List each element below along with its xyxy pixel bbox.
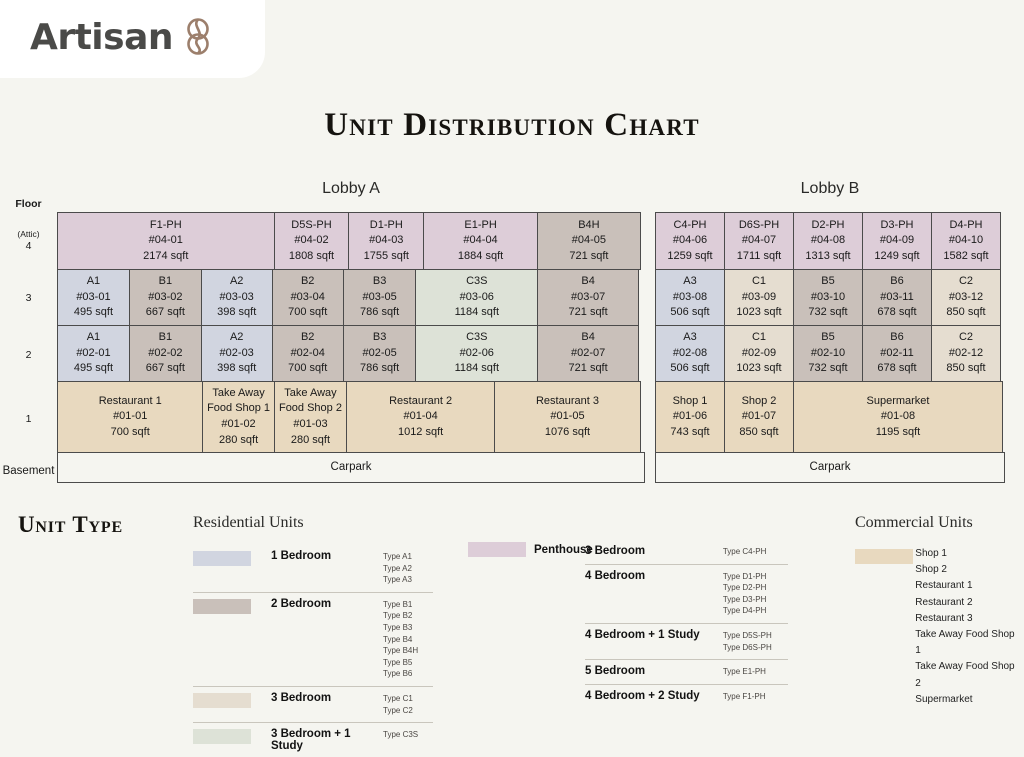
legend-type-list: Type E1-PH [723,660,788,684]
unit-number: #03-01 [76,290,110,306]
residential-legend-heading: Residential Units [193,514,433,532]
unit-cell: C3S#02-061184 sqft [415,325,538,382]
unit-number: #02-11 [880,346,913,362]
legend-type-item: Type D5S-PH [723,630,788,642]
legend-type-list: Type C1Type C2 [383,687,433,722]
unit-number: #01-07 [742,409,776,425]
unit-cell: A1#03-01495 sqft [57,269,130,326]
unit-code: Take Away [212,386,264,402]
unit-area: 1184 sqft [455,361,499,377]
unit-number: #04-07 [742,233,776,249]
unit-area: 1808 sqft [289,249,334,265]
unit-number: #03-05 [362,290,396,306]
unit-area: 2174 sqft [143,249,188,265]
unit-number: #01-02 [221,417,255,433]
unit-area: 495 sqft [74,305,113,321]
legend-type-item: Type C2 [383,705,433,717]
unit-number: #02-01 [76,346,110,362]
unit-area: 398 sqft [217,305,256,321]
unit-area: 732 sqft [808,305,847,321]
unit-code: D4-PH [949,218,982,234]
unit-cell: E1-PH#04-041884 sqft [423,212,538,270]
unit-cell: B4#03-07721 sqft [537,269,639,326]
unit-cell: B6#02-11678 sqft [862,325,932,382]
unit-code: Shop 1 [673,394,708,410]
unit-cell: C4-PH#04-061259 sqft [655,212,725,270]
lobby-b-carpark-cell: Carpark [655,452,1005,483]
unit-code: A1 [87,274,100,290]
unit-area: 743 sqft [670,425,709,441]
unit-code: B6 [890,274,903,290]
unit-number: #02-10 [811,346,845,362]
unit-code: B5 [821,330,834,346]
unit-cell: Restaurant 3#01-051076 sqft [494,381,641,453]
unit-code: C1 [752,274,766,290]
lobby-b-floor-2-row: A3#02-08506 sqftC1#02-091023 sqftB5#02-1… [655,325,1005,381]
legend-type-item: Type D1-PH [723,571,788,583]
unit-code: B2 [301,330,314,346]
floor-label-1: 1 [0,384,57,456]
unit-cell: C2#02-12850 sqft [931,325,1001,382]
commercial-item: Take Away Food Shop 1 [915,627,1020,659]
unit-code: A3 [683,330,696,346]
legend-label: 3 Bedroom + 1 Study [271,723,383,757]
lobby-b-heading: Lobby B [655,180,1005,198]
legend-type-item: Type B4 [383,634,433,646]
unit-cell: A3#02-08506 sqft [655,325,725,382]
unit-cell: A2#03-03398 sqft [201,269,273,326]
legend-row: 2 BedroomType B1Type B2Type B3Type B4Typ… [193,592,433,686]
commercial-legend: Commercial Units Shop 1Shop 2Restaurant … [855,514,1020,708]
legend-label: 3 Bedroom [271,687,383,709]
commercial-item: Shop 1 [915,546,1020,562]
commercial-legend-body: Shop 1Shop 2Restaurant 1Restaurant 2Rest… [855,546,1020,708]
legend-type-item: Type D3-PH [723,594,788,606]
lobby-a-carpark-cell: Carpark [57,452,645,483]
unit-code: B3 [373,330,386,346]
unit-number: #02-02 [148,346,182,362]
unit-code: Restaurant 3 [536,394,599,410]
unit-code: C4-PH [673,218,706,234]
unit-number: #04-02 [294,233,328,249]
unit-number: #03-02 [148,290,182,306]
unit-number: #01-01 [113,409,147,425]
unit-cell: D4-PH#04-101582 sqft [931,212,1001,270]
legend-label: 3 Bedroom [585,540,723,562]
unit-area: 1184 sqft [455,305,499,321]
unit-cell: B5#02-10732 sqft [793,325,863,382]
unit-number: #04-04 [463,233,497,249]
legend-swatch [193,729,251,744]
lobby-a-carpark-label: Carpark [331,459,372,475]
legend-label: 2 Bedroom [271,593,383,615]
unit-cell: Take AwayFood Shop 1#01-02280 sqft [202,381,274,453]
unit-cell: D5S-PH#04-021808 sqft [274,212,350,270]
unit-area: 700 sqft [111,425,150,441]
lobby-b-table: C4-PH#04-061259 sqftD6S-PH#04-071711 sqf… [655,212,1005,482]
unit-number: #03-09 [742,290,776,306]
residential-legend: Residential Units 1 BedroomType A1Type A… [193,514,433,757]
unit-cell: C2#03-12850 sqft [931,269,1001,326]
unit-area: 1582 sqft [943,249,988,265]
legend-label: 1 Bedroom [271,545,383,567]
legend-type-item: Type D4-PH [723,605,788,617]
unit-area: 1012 sqft [398,425,443,441]
unit-area: 1313 sqft [805,249,850,265]
unit-area: 1195 sqft [876,425,920,441]
legend-row: 3 BedroomType C1Type C2 [193,686,433,722]
unit-area: 506 sqft [670,305,709,321]
commercial-item: Restaurant 1 [915,578,1020,594]
floor-4-number: 4 [26,240,32,253]
commercial-swatch [855,549,913,564]
unit-area: 786 sqft [360,305,399,321]
legend-type-item: Type B2 [383,610,433,622]
unit-cell: Supermarket#01-081195 sqft [793,381,1003,453]
commercial-item: Restaurant 3 [915,611,1020,627]
residential-legend-rows: 1 BedroomType A1Type A2Type A32 BedroomT… [193,545,433,757]
floor-label-4: (Attic) 4 [0,212,57,270]
unit-cell: A1#02-01495 sqft [57,325,130,382]
unit-code: B4H [578,218,599,234]
floor-2-number: 2 [26,349,32,362]
unit-cell: B2#03-04700 sqft [272,269,344,326]
unit-area: 1023 sqft [736,361,781,377]
unit-cell: A3#03-08506 sqft [655,269,725,326]
lobby-a-table: F1-PH#04-012174 sqftD5S-PH#04-021808 sqf… [57,212,645,482]
unit-cell: B1#03-02667 sqft [129,269,202,326]
unit-number: #02-03 [220,346,254,362]
unit-cell: D2-PH#04-081313 sqft [793,212,863,270]
legend-type-item: Type A1 [383,551,433,563]
legend-swatch-cell [193,545,271,571]
legend-type-item: Type A2 [383,563,433,575]
unit-number: #02-07 [571,346,605,362]
unit-number: #03-08 [673,290,707,306]
unit-code: A2 [230,274,243,290]
unit-code: Food Shop 2 [279,401,342,417]
legend-swatch-cell [193,593,271,619]
unit-cell: B5#03-10732 sqft [793,269,863,326]
unit-code: A3 [683,274,696,290]
unit-code: B5 [821,274,834,290]
unit-number: #04-05 [572,233,606,249]
unit-area: 1755 sqft [364,249,409,265]
unit-area: 280 sqft [219,433,258,449]
commercial-item-list: Shop 1Shop 2Restaurant 1Restaurant 2Rest… [915,546,1020,708]
unit-cell: C1#02-091023 sqft [724,325,794,382]
unit-number: #01-08 [881,409,915,425]
legend-row: 3 BedroomType C4-PH [585,540,788,564]
legend-swatch-cell [193,687,271,713]
legend-row: 1 BedroomType A1Type A2Type A3 [193,545,433,592]
unit-number: #04-10 [949,233,983,249]
unit-cell: F1-PH#04-012174 sqft [57,212,275,270]
unit-area: 667 sqft [146,305,185,321]
unit-cell: B2#02-04700 sqft [272,325,344,382]
legend-type-item: Type B1 [383,599,433,611]
penthouse-legend-header: Penthouse [468,542,593,557]
unit-cell: B6#03-11678 sqft [862,269,932,326]
unit-number: #03-11 [880,290,913,306]
unit-cell: B1#02-02667 sqft [129,325,202,382]
unit-area: 700 sqft [288,305,327,321]
unit-cell: B3#03-05786 sqft [343,269,417,326]
lobby-a-heading: Lobby A [57,180,645,198]
brand-logo: Artisan [0,0,265,78]
lobby-a-floor-3-row: A1#03-01495 sqftB1#03-02667 sqftA2#03-03… [57,269,645,325]
unit-area: 850 sqft [946,305,985,321]
unit-area: 786 sqft [360,361,399,377]
unit-area: 667 sqft [146,361,185,377]
unit-area: 850 sqft [739,425,778,441]
legend-type-list: Type F1-PH [723,685,788,709]
unit-code: A2 [230,330,243,346]
unit-number: #03-07 [571,290,605,306]
unit-code: F1-PH [150,218,182,234]
unit-area: 1076 sqft [545,425,590,441]
unit-number: #03-12 [949,290,983,306]
unit-cell: Restaurant 2#01-041012 sqft [346,381,495,453]
unit-cell: D6S-PH#04-071711 sqft [724,212,794,270]
legend-type-list: Type C3S [383,723,433,747]
unit-code: B3 [373,274,386,290]
unit-area: 1711 sqft [737,249,781,265]
unit-cell: Take AwayFood Shop 2#01-03280 sqft [274,381,348,453]
unit-code: C2 [959,274,973,290]
unit-number: #04-09 [880,233,914,249]
legend-swatch [193,599,251,614]
legend-type-item: Type C1 [383,693,433,705]
unit-area: 850 sqft [946,361,985,377]
unit-number: #02-05 [362,346,396,362]
unit-code: Restaurant 1 [99,394,162,410]
penthouse-legend-rows: 3 BedroomType C4-PH4 BedroomType D1-PHTy… [585,540,788,708]
legend-type-list: Type B1Type B2Type B3Type B4Type B4HType… [383,593,433,686]
unit-code: B2 [301,274,314,290]
unit-cell: A2#02-03398 sqft [201,325,273,382]
unit-number: #04-01 [149,233,183,249]
commercial-item: Restaurant 2 [915,595,1020,611]
lobby-a-floor-2-row: A1#02-01495 sqftB1#02-02667 sqftA2#02-03… [57,325,645,381]
unit-cell: D1-PH#04-031755 sqft [348,212,424,270]
unit-code: B1 [159,274,172,290]
unit-code: Take Away [284,386,336,402]
lobby-a-floor-1-row: Restaurant 1#01-01700 sqftTake AwayFood … [57,381,645,452]
unit-code: Food Shop 1 [207,401,270,417]
unit-area: 678 sqft [877,361,916,377]
brand-mark-icon [181,17,215,57]
unit-cell: C3S#03-061184 sqft [415,269,538,326]
basement-label: Basement [3,464,55,478]
unit-code: B4 [581,330,594,346]
unit-code: D1-PH [370,218,403,234]
lobby-b-floor-3-row: A3#03-08506 sqftC1#03-091023 sqftB5#03-1… [655,269,1005,325]
lobby-a-basement-row: Carpark [57,452,645,482]
legend-type-item: Type E1-PH [723,666,788,678]
unit-number: #02-06 [460,346,494,362]
unit-number: #02-12 [949,346,983,362]
legend-type-list: Type D1-PHType D2-PHType D3-PHType D4-PH [723,565,788,623]
unit-cell: B4#02-07721 sqft [537,325,639,382]
unit-area: 700 sqft [288,361,327,377]
page-title: Unit Distribution Chart [0,107,1024,144]
floor-4-sub: (Attic) [17,229,39,240]
legend-type-item: Type B3 [383,622,433,634]
unit-code: Restaurant 2 [389,394,452,410]
legend-row: 4 Bedroom + 2 StudyType F1-PH [585,684,788,709]
unit-code: B6 [890,330,903,346]
unit-area: 495 sqft [74,361,113,377]
penthouse-swatch [468,542,526,557]
legend-type-item: Type C4-PH [723,546,788,558]
lobby-b-carpark-label: Carpark [810,459,851,475]
commercial-item: Supermarket [915,692,1020,708]
unit-cell: C1#03-091023 sqft [724,269,794,326]
legend-label: 4 Bedroom + 2 Study [585,685,723,707]
legend-row: 4 Bedroom + 1 StudyType D5S-PHType D6S-P… [585,623,788,659]
legend-type-list: Type A1Type A2Type A3 [383,545,433,592]
unit-code: C1 [752,330,766,346]
unit-code: D2-PH [811,218,844,234]
commercial-legend-heading: Commercial Units [855,514,1020,532]
unit-area: 1259 sqft [667,249,712,265]
floor-label-column: Floor (Attic) 4 3 2 1 Basement [0,198,57,487]
lobby-b-floor-4-row: C4-PH#04-061259 sqftD6S-PH#04-071711 sqf… [655,212,1005,269]
unit-area: 1023 sqft [736,305,781,321]
unit-area: 721 sqft [569,361,608,377]
unit-code: E1-PH [464,218,496,234]
floor-label-3: 3 [0,270,57,327]
unit-area: 732 sqft [808,361,847,377]
legend-type-item: Type D2-PH [723,582,788,594]
unit-type-heading: Unit Type [18,512,123,538]
unit-code: Supermarket [867,394,930,410]
legend-label: 4 Bedroom + 1 Study [585,624,723,646]
legend-swatch [193,693,251,708]
unit-cell: Restaurant 1#01-01700 sqft [57,381,203,453]
legend-type-item: Type D6S-PH [723,642,788,654]
unit-number: #02-08 [673,346,707,362]
commercial-item: Shop 2 [915,562,1020,578]
unit-code: D5S-PH [291,218,331,234]
unit-number: #04-08 [811,233,845,249]
legend-type-item: Type C3S [383,729,433,741]
unit-number: #03-04 [291,290,325,306]
unit-area: 678 sqft [877,305,916,321]
unit-code: C3S [466,330,487,346]
unit-area: 506 sqft [670,361,709,377]
unit-code: D3-PH [880,218,913,234]
floor-label-basement: Basement [0,456,57,487]
legend-row: 3 Bedroom + 1 StudyType C3S [193,722,433,757]
lobby-b-floor-1-row: Shop 1#01-06743 sqftShop 2#01-07850 sqft… [655,381,1005,452]
penthouse-legend: Penthouse 3 BedroomType C4-PH4 BedroomTy… [468,540,788,708]
commercial-item: Take Away Food Shop 2 [915,659,1020,691]
floor-label-2: 2 [0,327,57,384]
unit-area: 398 sqft [217,361,256,377]
unit-number: #04-06 [673,233,707,249]
brand-name: Artisan [30,17,173,58]
legend-type-list: Type C4-PH [723,540,788,564]
unit-cell: D3-PH#04-091249 sqft [862,212,932,270]
commercial-swatch-column [855,546,915,708]
unit-area: 280 sqft [291,433,330,449]
penthouse-label: Penthouse [534,544,593,556]
unit-code: C2 [959,330,973,346]
unit-code: D6S-PH [739,218,779,234]
unit-code: Shop 2 [742,394,777,410]
unit-area: 721 sqft [569,249,608,265]
floor-column-header: Floor [0,198,57,212]
legend-type-item: Type B4H [383,645,433,657]
unit-code: B4 [581,274,594,290]
lobby-b-basement-row: Carpark [655,452,1005,482]
unit-code: B1 [159,330,172,346]
unit-number: #03-06 [460,290,494,306]
legend-swatch-cell [193,723,271,749]
unit-area: 1884 sqft [458,249,503,265]
legend-type-list: Type D5S-PHType D6S-PH [723,624,788,659]
legend-row: 4 BedroomType D1-PHType D2-PHType D3-PHT… [585,564,788,623]
legend-label: 5 Bedroom [585,660,723,682]
unit-area: 721 sqft [569,305,608,321]
unit-number: #02-04 [291,346,325,362]
legend-type-item: Type B5 [383,657,433,669]
legend-type-item: Type B6 [383,668,433,680]
unit-number: #03-10 [811,290,845,306]
lobby-a-floor-4-row: F1-PH#04-012174 sqftD5S-PH#04-021808 sqf… [57,212,645,269]
floor-3-number: 3 [26,292,32,305]
floor-1-number: 1 [26,413,32,426]
unit-number: #02-09 [742,346,776,362]
unit-number: #01-06 [673,409,707,425]
legend-row: 5 BedroomType E1-PH [585,659,788,684]
legend-type-item: Type F1-PH [723,691,788,703]
legend-swatch [193,551,251,566]
unit-number: #01-03 [293,417,327,433]
unit-number: #01-05 [550,409,584,425]
unit-cell: Shop 2#01-07850 sqft [724,381,794,453]
unit-code: C3S [466,274,487,290]
unit-number: #03-03 [220,290,254,306]
legend-type-item: Type A3 [383,574,433,586]
unit-number: #01-04 [403,409,437,425]
unit-number: #04-03 [369,233,403,249]
unit-cell: Shop 1#01-06743 sqft [655,381,725,453]
unit-code: A1 [87,330,100,346]
unit-cell: B3#02-05786 sqft [343,325,417,382]
unit-area: 1249 sqft [874,249,919,265]
unit-cell: B4H#04-05721 sqft [537,212,641,270]
legend-label: 4 Bedroom [585,565,723,587]
